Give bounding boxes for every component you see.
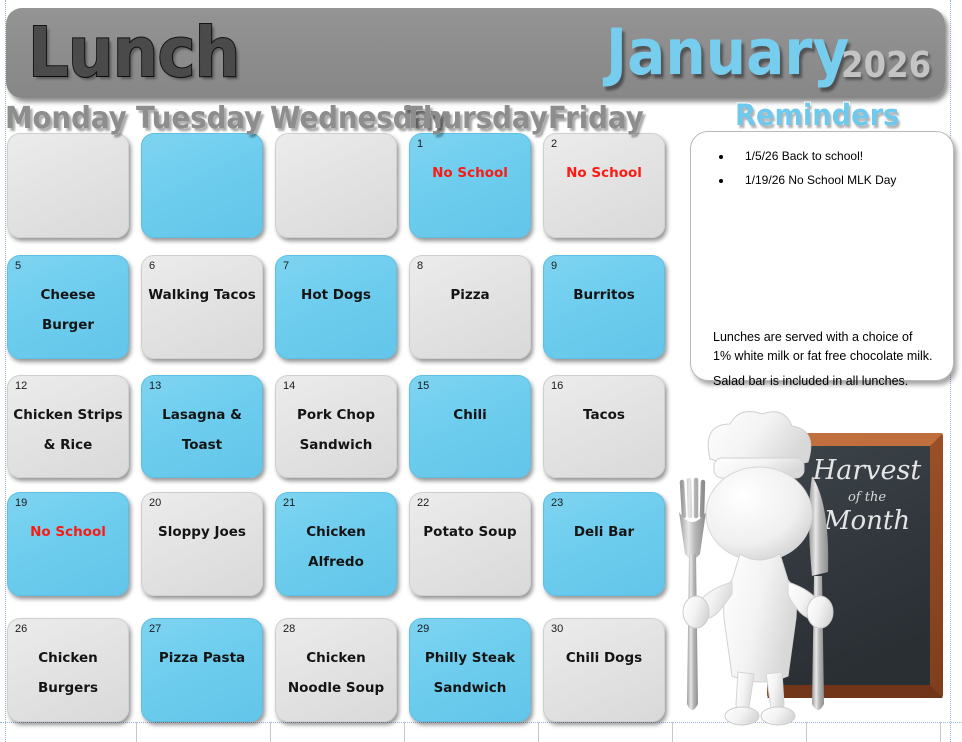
- day-header-thursday: Thursday: [404, 103, 548, 135]
- calendar-day-9[interactable]: 9Burritos: [543, 255, 665, 359]
- calendar-day-28[interactable]: 28ChickenNoodle Soup: [275, 618, 397, 722]
- calendar-day-20[interactable]: 20Sloppy Joes: [141, 492, 263, 596]
- menu-item: Tacos: [548, 400, 660, 430]
- menu-line: No School: [12, 517, 124, 547]
- menu-item: Pork ChopSandwich: [280, 400, 392, 460]
- calendar-day-2[interactable]: 2No School: [543, 133, 665, 238]
- calendar-day-27[interactable]: 27Pizza Pasta: [141, 618, 263, 722]
- day-number: 28: [283, 623, 295, 636]
- menu-item: Pizza: [414, 280, 526, 310]
- menu-item: CheeseBurger: [12, 280, 124, 340]
- menu-line: Pizza: [414, 280, 526, 310]
- day-number: 7: [283, 260, 289, 273]
- menu-line: Pork Chop: [280, 400, 392, 430]
- menu-line: Lasagna &: [146, 400, 258, 430]
- menu-item: Potato Soup: [414, 517, 526, 547]
- no-school-label: No School: [12, 517, 124, 547]
- menu-line: Tacos: [548, 400, 660, 430]
- calendar-day-22[interactable]: 22Potato Soup: [409, 492, 531, 596]
- menu-item: Lasagna &Toast: [146, 400, 258, 460]
- page-tick: [538, 722, 539, 742]
- menu-item: ChickenNoodle Soup: [280, 643, 392, 703]
- day-number: 27: [149, 623, 161, 636]
- calendar-day-15[interactable]: 15Chili: [409, 375, 531, 478]
- menu-line: Sloppy Joes: [146, 517, 258, 547]
- menu-line: Philly Steak: [414, 643, 526, 673]
- menu-line: Chili Dogs: [548, 643, 660, 673]
- calendar-day-26[interactable]: 26ChickenBurgers: [7, 618, 129, 722]
- day-number: 23: [551, 497, 563, 510]
- calendar-day-5[interactable]: 5CheeseBurger: [7, 255, 129, 359]
- day-header-friday: Friday: [548, 103, 644, 135]
- salad-note: Salad bar is included in all lunches.: [713, 372, 943, 391]
- menu-line: Hot Dogs: [280, 280, 392, 310]
- menu-line: No School: [414, 158, 526, 188]
- menu-item: Deli Bar: [548, 517, 660, 547]
- calendar-day-8[interactable]: 8Pizza: [409, 255, 531, 359]
- menu-line: Walking Tacos: [146, 280, 258, 310]
- day-number: 15: [417, 380, 429, 393]
- salad-note-line1: Salad bar is included in all lunches.: [713, 372, 943, 391]
- menu-line: Potato Soup: [414, 517, 526, 547]
- menu-line: & Rice: [12, 430, 124, 460]
- menu-item: Sloppy Joes: [146, 517, 258, 547]
- day-number: 9: [551, 260, 557, 273]
- calendar-day-21[interactable]: 21ChickenAlfredo: [275, 492, 397, 596]
- day-number: 8: [417, 260, 423, 273]
- menu-line: Burgers: [12, 673, 124, 703]
- menu-line: Noodle Soup: [280, 673, 392, 703]
- menu-item: Pizza Pasta: [146, 643, 258, 673]
- calendar-day-12[interactable]: 12Chicken Strips& Rice: [7, 375, 129, 478]
- calendar-day-19[interactable]: 19No School: [7, 492, 129, 596]
- svg-text:Month: Month: [823, 506, 910, 536]
- calendar-day-empty[interactable]: [7, 133, 129, 238]
- reminders-list: 1/5/26 Back to school!1/19/26 No School …: [713, 144, 945, 192]
- fork-icon: [679, 480, 706, 710]
- menu-item: Chili: [414, 400, 526, 430]
- year-title: 2026: [841, 44, 931, 88]
- menu-line: Sandwich: [414, 673, 526, 703]
- calendar-day-16[interactable]: 16Tacos: [543, 375, 665, 478]
- day-number: 22: [417, 497, 429, 510]
- day-number: 20: [149, 497, 161, 510]
- day-number: 21: [283, 497, 295, 510]
- reminder-item: 1/5/26 Back to school!: [733, 144, 945, 168]
- reminder-item: 1/19/26 No School MLK Day: [733, 168, 945, 192]
- page-tick: [270, 722, 271, 742]
- calendar-day-1[interactable]: 1No School: [409, 133, 531, 238]
- menu-line: Chicken: [12, 643, 124, 673]
- day-number: 26: [15, 623, 27, 636]
- day-number: 13: [149, 380, 161, 393]
- menu-line: Burger: [12, 310, 124, 340]
- menu-line: Alfredo: [280, 547, 392, 577]
- day-header-monday: Monday: [5, 103, 127, 135]
- menu-line: Chili: [414, 400, 526, 430]
- svg-text:of the: of the: [848, 490, 886, 505]
- day-number: 29: [417, 623, 429, 636]
- chef-chalkboard-artwork: Harvest of the Month: [662, 404, 962, 739]
- menu-line: Sandwich: [280, 430, 392, 460]
- page-title: Lunch: [28, 12, 239, 94]
- menu-item: ChickenAlfredo: [280, 517, 392, 577]
- menu-item: Burritos: [548, 280, 660, 310]
- menu-line: Chicken: [280, 517, 392, 547]
- menu-line: No School: [548, 158, 660, 188]
- day-header-tuesday: Tuesday: [136, 103, 262, 135]
- milk-note-line1: Lunches are served with a choice of: [713, 328, 943, 347]
- reminders-heading: Reminders: [735, 99, 899, 131]
- day-number: 5: [15, 260, 21, 273]
- menu-item: Philly SteakSandwich: [414, 643, 526, 703]
- calendar-day-14[interactable]: 14Pork ChopSandwich: [275, 375, 397, 478]
- menu-line: Chicken Strips: [12, 400, 124, 430]
- no-school-label: No School: [414, 158, 526, 188]
- day-number: 12: [15, 380, 27, 393]
- calendar-day-empty[interactable]: [275, 133, 397, 238]
- calendar-day-13[interactable]: 13Lasagna &Toast: [141, 375, 263, 478]
- milk-note: Lunches are served with a choice of 1% w…: [713, 328, 943, 366]
- menu-line: Deli Bar: [548, 517, 660, 547]
- reminders-panel: 1/5/26 Back to school!1/19/26 No School …: [690, 131, 954, 381]
- menu-item: Chicken Strips& Rice: [12, 400, 124, 460]
- svg-text:Harvest: Harvest: [812, 455, 922, 486]
- day-number: 19: [15, 497, 27, 510]
- milk-note-line2: 1% white milk or fat free chocolate milk…: [713, 347, 943, 366]
- menu-line: Cheese: [12, 280, 124, 310]
- page-tick: [404, 722, 405, 742]
- menu-item: ChickenBurgers: [12, 643, 124, 703]
- no-school-label: No School: [548, 158, 660, 188]
- menu-line: Burritos: [548, 280, 660, 310]
- day-number: 1: [417, 138, 423, 151]
- month-title: January: [606, 13, 849, 93]
- calendar-day-6[interactable]: 6Walking Tacos: [141, 255, 263, 359]
- day-number: 16: [551, 380, 563, 393]
- day-number: 2: [551, 138, 557, 151]
- title-banner: Lunch January 2026: [6, 8, 945, 98]
- calendar-day-30[interactable]: 30Chili Dogs: [543, 618, 665, 722]
- menu-line: Chicken: [280, 643, 392, 673]
- calendar-day-29[interactable]: 29Philly SteakSandwich: [409, 618, 531, 722]
- menu-item: Chili Dogs: [548, 643, 660, 673]
- menu-line: Pizza Pasta: [146, 643, 258, 673]
- menu-line: Toast: [146, 430, 258, 460]
- calendar-day-empty[interactable]: [141, 133, 263, 238]
- day-number: 6: [149, 260, 155, 273]
- menu-item: Walking Tacos: [146, 280, 258, 310]
- calendar-day-7[interactable]: 7Hot Dogs: [275, 255, 397, 359]
- menu-item: Hot Dogs: [280, 280, 392, 310]
- day-number: 14: [283, 380, 295, 393]
- day-number: 30: [551, 623, 563, 636]
- page-tick: [136, 722, 137, 742]
- calendar-day-23[interactable]: 23Deli Bar: [543, 492, 665, 596]
